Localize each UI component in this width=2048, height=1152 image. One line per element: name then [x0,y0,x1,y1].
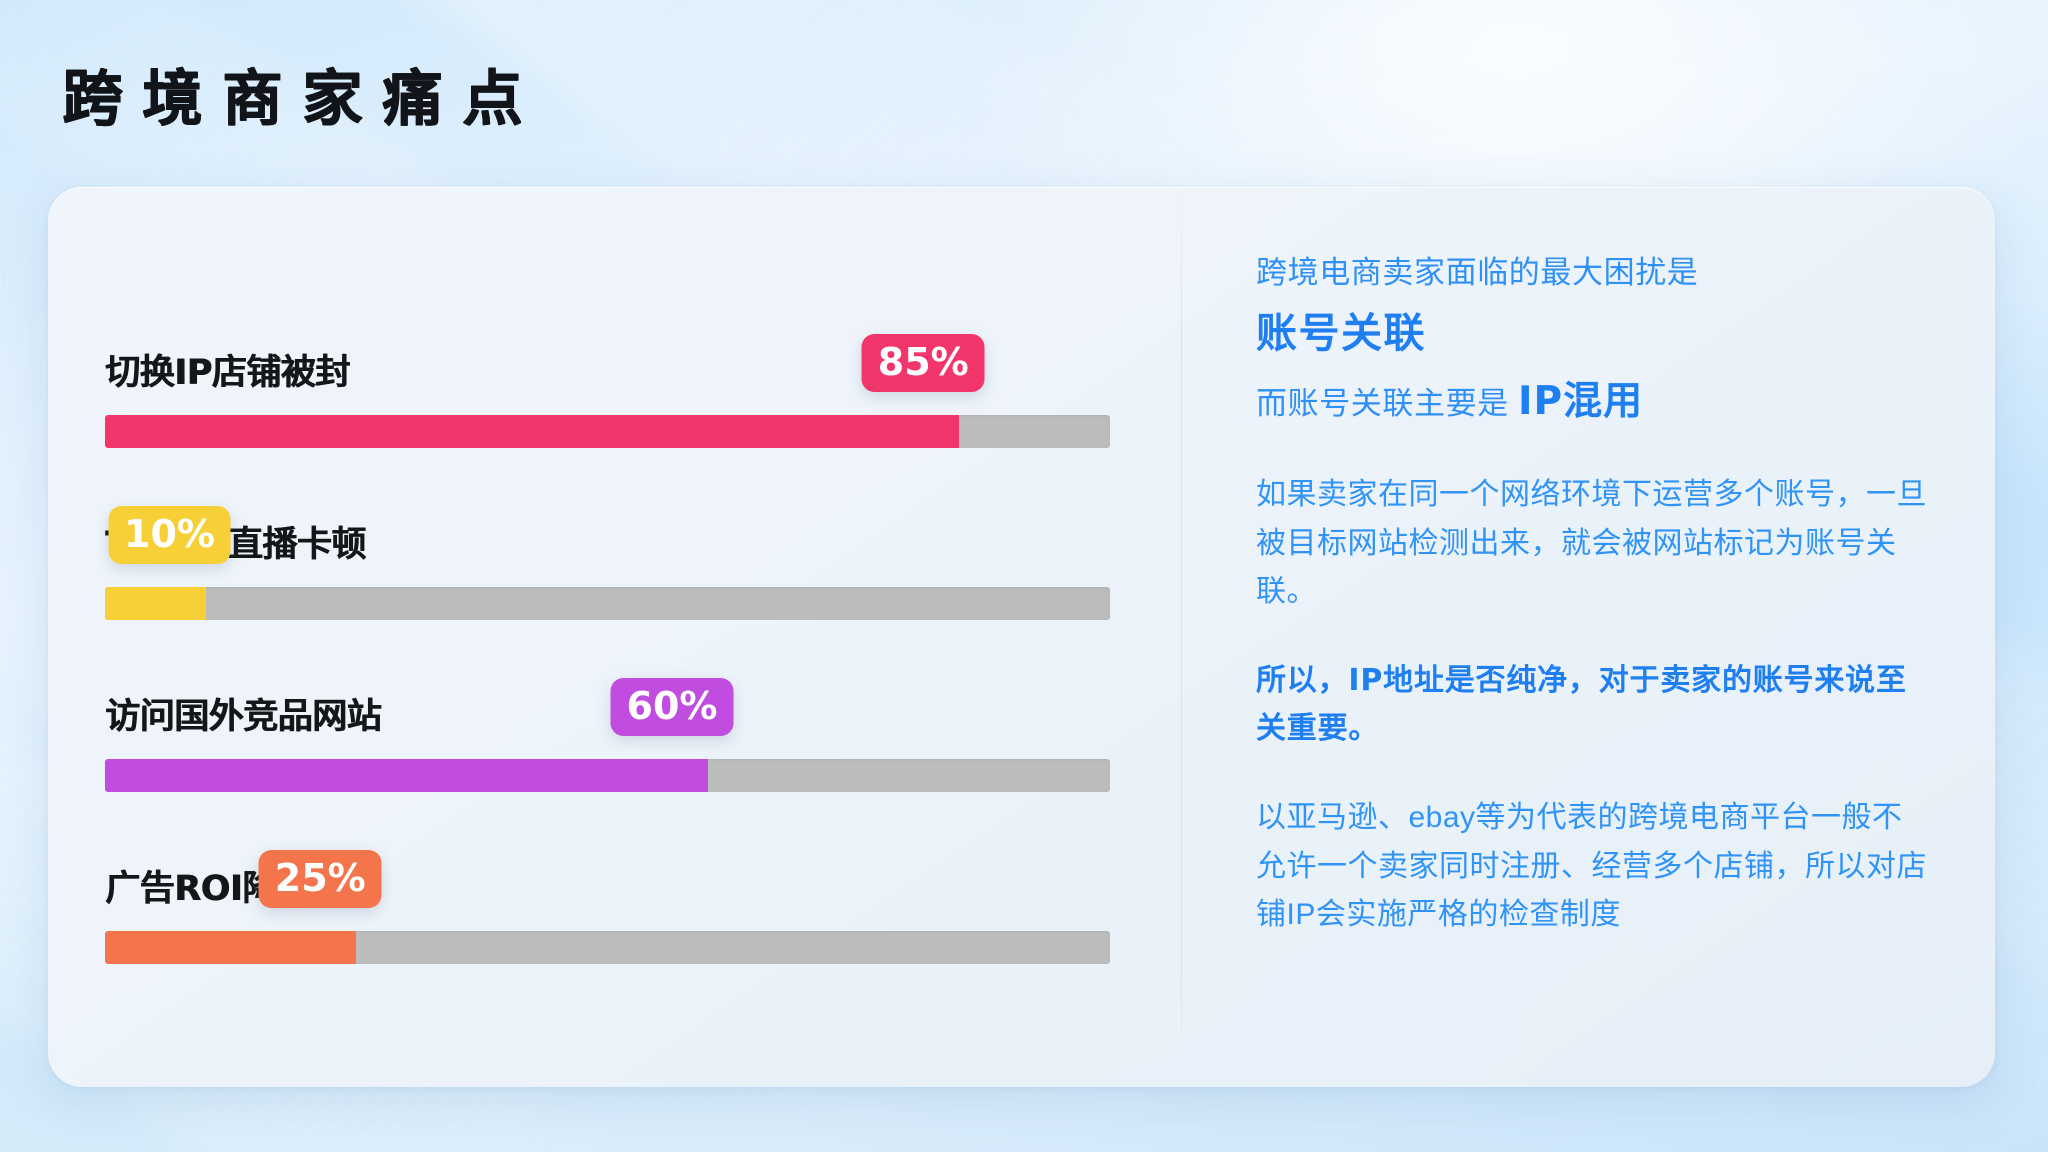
bar-track [105,931,1110,964]
bar-row: 切换IP店铺被封 85% [105,298,1151,460]
bar-value-badge: 85% [862,334,985,392]
page-title: 跨境商家痛点 [62,50,542,137]
bar-track [105,587,1110,620]
slide-canvas: 跨境商家痛点 切换IP店铺被封 85% TikTok直播卡顿 10% 访问国外竞… [0,0,2048,1152]
bar-row: TikTok直播卡顿 10% [105,470,1151,632]
lead-line: 跨境电商卖家面临的最大困扰是 [1256,251,1929,295]
bar-fill [105,759,708,792]
pain-point-bar-chart: 切换IP店铺被封 85% TikTok直播卡顿 10% 访问国外竞品网站 60% [48,187,1181,1087]
bar-track [105,759,1110,792]
bar-value-badge: 25% [259,850,382,908]
lead-mixed-prefix: 而账号关联主要是 [1256,386,1509,421]
bar-row: 广告ROI降低 25% [105,814,1151,976]
bar-fill [105,931,356,964]
bar-fill [105,415,959,448]
bar-fill [105,587,206,620]
lead-strong: 账号关联 [1256,305,1929,362]
lead-mixed: 而账号关联主要是 IP混用 [1256,374,1929,429]
bar-value-badge: 60% [611,678,734,736]
bar-label: 访问国外竞品网站 [105,688,381,739]
explanation-panel: 跨境电商卖家面临的最大困扰是 账号关联 而账号关联主要是 IP混用 如果卖家在同… [1182,187,1995,1087]
paragraph-two: 所以，IP地址是否纯净，对于卖家的账号来说至关重要。 [1256,657,1929,754]
bar-value-badge: 10% [108,506,231,564]
content-card: 切换IP店铺被封 85% TikTok直播卡顿 10% 访问国外竞品网站 60% [48,187,1995,1087]
bar-track [105,415,1110,448]
paragraph-three: 以亚马逊、ebay等为代表的跨境电商平台一般不允许一个卖家同时注册、经营多个店铺… [1256,794,1929,940]
bar-label: 切换IP店铺被封 [105,344,350,395]
paragraph-one: 如果卖家在同一个网络环境下运营多个账号，一旦被目标网站检测出来，就会被网站标记为… [1256,471,1929,617]
lead-mixed-emphasis: IP混用 [1518,379,1643,424]
bar-row: 访问国外竞品网站 60% [105,642,1151,804]
